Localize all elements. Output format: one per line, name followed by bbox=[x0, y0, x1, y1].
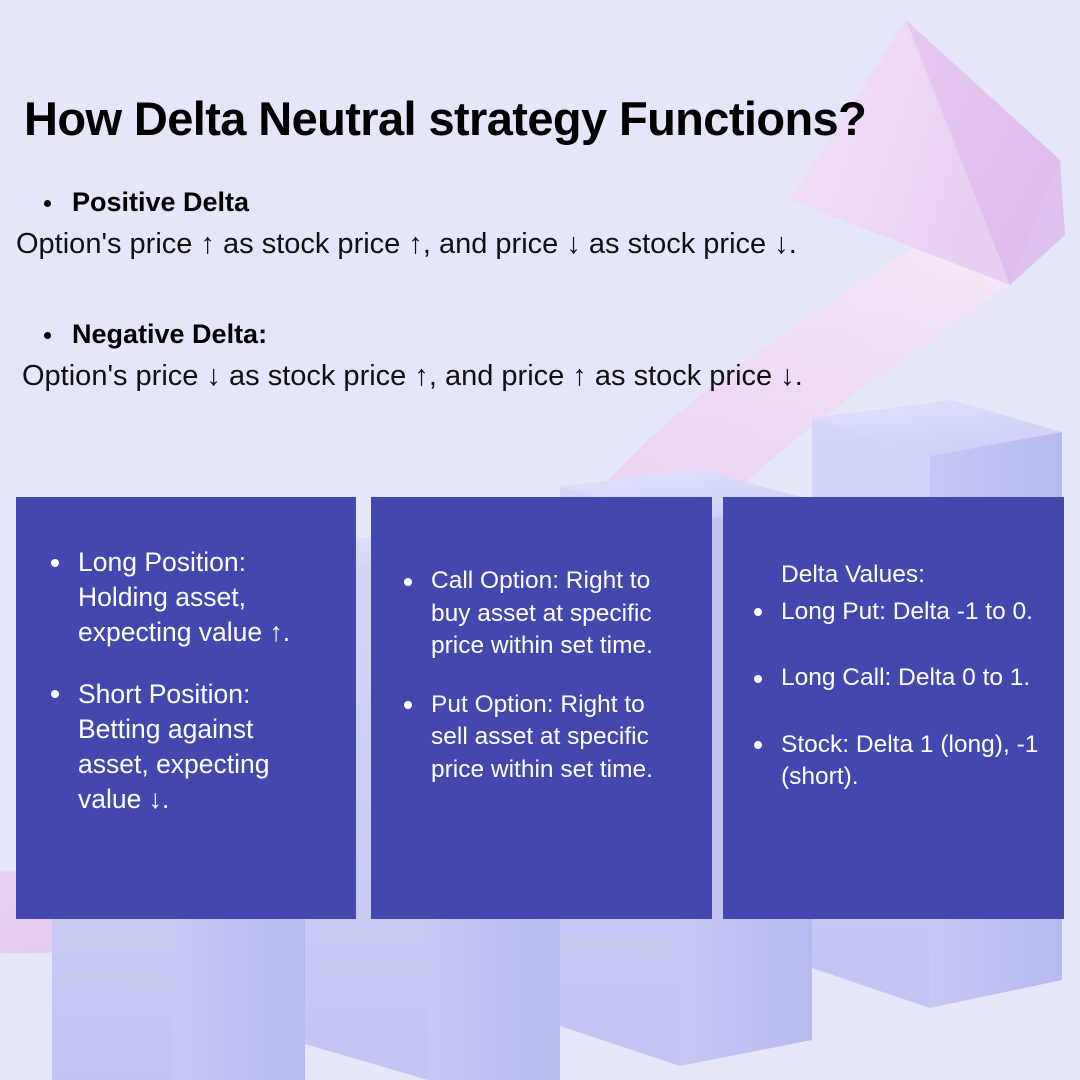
positive-delta-heading-label: Positive Delta bbox=[72, 187, 249, 217]
positions-list: Long Position: Holding asset, expecting … bbox=[42, 545, 330, 818]
bullet-dot-icon bbox=[404, 701, 412, 709]
list-item: Call Option: Right to buy asset at speci… bbox=[395, 565, 688, 663]
negative-delta-body: Option's price ↓ as stock price ↑, and p… bbox=[0, 358, 1060, 394]
bullet-dot-icon bbox=[51, 690, 59, 698]
delta-values-list: Long Put: Delta -1 to 0. Long Call: Delt… bbox=[745, 596, 1052, 794]
list-item: Stock: Delta 1 (long), -1 (short). bbox=[745, 729, 1052, 794]
bullet-dot-icon bbox=[754, 608, 762, 616]
positions-card: Long Position: Holding asset, expecting … bbox=[16, 497, 356, 919]
list-item-label: Long Position: Holding asset, expecting … bbox=[78, 547, 290, 647]
positive-delta-heading: Positive Delta bbox=[0, 186, 1060, 218]
bullet-dot-icon bbox=[44, 332, 51, 339]
negative-delta-heading: Negative Delta: bbox=[0, 318, 1060, 350]
negative-delta-section: Negative Delta: Option's price ↓ as stoc… bbox=[0, 318, 1060, 395]
list-item-label: Short Position: Betting against asset, e… bbox=[78, 679, 270, 815]
bullet-dot-icon bbox=[44, 200, 51, 207]
infographic-canvas: How Delta Neutral strategy Functions? Po… bbox=[0, 0, 1080, 1080]
delta-values-lead: Delta Values: bbox=[745, 559, 1052, 592]
list-item-label: Long Put: Delta -1 to 0. bbox=[781, 598, 1033, 625]
page-title: How Delta Neutral strategy Functions? bbox=[24, 93, 1054, 145]
list-item: Short Position: Betting against asset, e… bbox=[42, 677, 330, 818]
options-list: Call Option: Right to buy asset at speci… bbox=[395, 565, 688, 786]
positive-delta-section: Positive Delta Option's price ↑ as stock… bbox=[0, 186, 1060, 263]
list-item: Put Option: Right to sell asset at speci… bbox=[395, 689, 688, 787]
list-item-label: Long Call: Delta 0 to 1. bbox=[781, 664, 1030, 691]
bullet-dot-icon bbox=[404, 578, 412, 586]
bullet-dot-icon bbox=[51, 559, 59, 567]
bullet-dot-icon bbox=[754, 675, 762, 683]
positive-delta-body: Option's price ↑ as stock price ↑, and p… bbox=[0, 226, 1060, 262]
delta-values-card: Delta Values: Long Put: Delta -1 to 0. L… bbox=[723, 497, 1064, 919]
options-card: Call Option: Right to buy asset at speci… bbox=[371, 497, 712, 919]
bullet-dot-icon bbox=[754, 741, 762, 749]
list-item-label: Put Option: Right to sell asset at speci… bbox=[431, 691, 653, 783]
list-item: Long Position: Holding asset, expecting … bbox=[42, 545, 330, 651]
negative-delta-heading-label: Negative Delta: bbox=[72, 319, 267, 349]
list-item: Long Call: Delta 0 to 1. bbox=[745, 662, 1052, 695]
list-item-label: Stock: Delta 1 (long), -1 (short). bbox=[781, 731, 1038, 791]
list-item-label: Call Option: Right to buy asset at speci… bbox=[431, 567, 653, 659]
list-item: Long Put: Delta -1 to 0. bbox=[745, 596, 1052, 629]
